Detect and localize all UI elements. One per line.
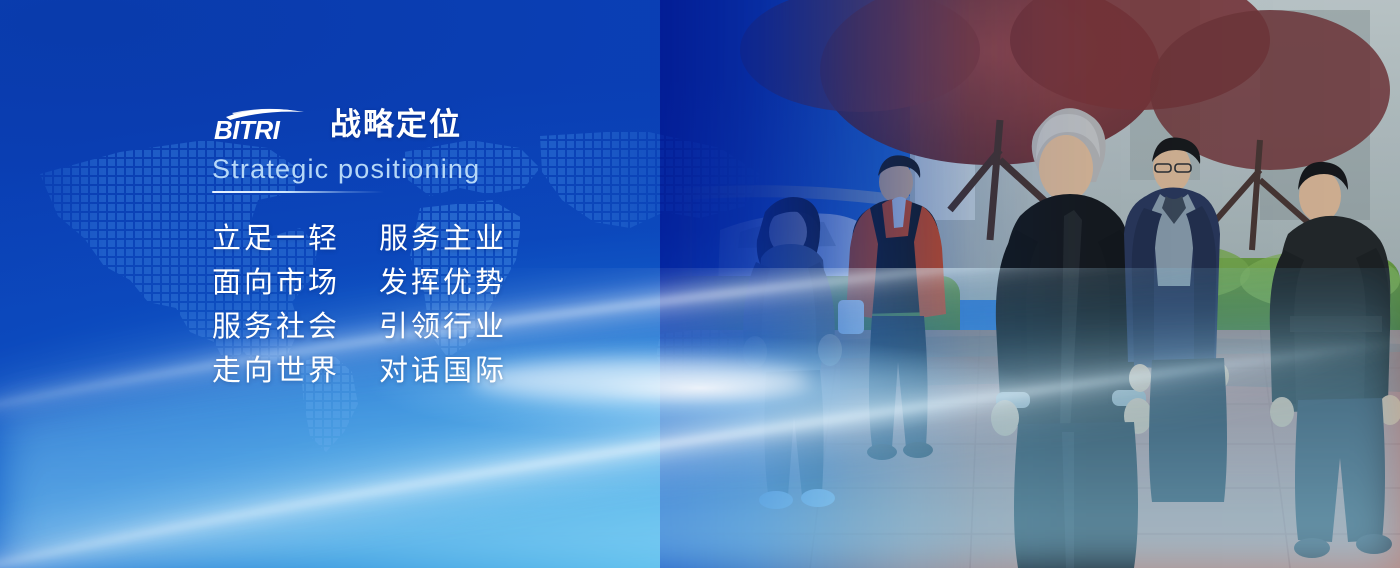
bitri-wordmark: BITRI <box>214 115 281 145</box>
banner-text-block: BITRI 战略定位 Strategic positioning 立足一轻 服务… <box>212 104 772 393</box>
slogan-line: 走向世界 对话国际 <box>212 349 772 393</box>
slogan-right: 对话国际 <box>347 349 507 393</box>
slogan-list: 立足一轻 服务主业 面向市场 发挥优势 服务社会 引领行业 走向世界 对话国际 <box>212 217 772 393</box>
slogan-right: 发挥优势 <box>347 261 507 305</box>
slogan-left: 面向市场 <box>212 261 347 305</box>
slogan-left: 服务社会 <box>212 305 347 349</box>
slogan-line: 立足一轻 服务主业 <box>212 217 772 261</box>
slogan-right: 服务主业 <box>347 217 507 261</box>
title-row: BITRI 战略定位 <box>212 104 772 146</box>
slogan-line: 面向市场 发挥优势 <box>212 261 772 305</box>
subtitle-english: Strategic positioning <box>212 152 772 186</box>
title-chinese: 战略定位 <box>330 105 462 145</box>
slogan-left: 立足一轻 <box>212 217 347 261</box>
slogan-left: 走向世界 <box>212 349 347 393</box>
bitri-logo: BITRI <box>212 105 316 145</box>
slogan-line: 服务社会 引领行业 <box>212 305 772 349</box>
title-divider <box>212 191 384 193</box>
slogan-right: 引领行业 <box>347 305 507 349</box>
strategic-positioning-banner: BITRI 战略定位 Strategic positioning 立足一轻 服务… <box>0 0 1400 568</box>
